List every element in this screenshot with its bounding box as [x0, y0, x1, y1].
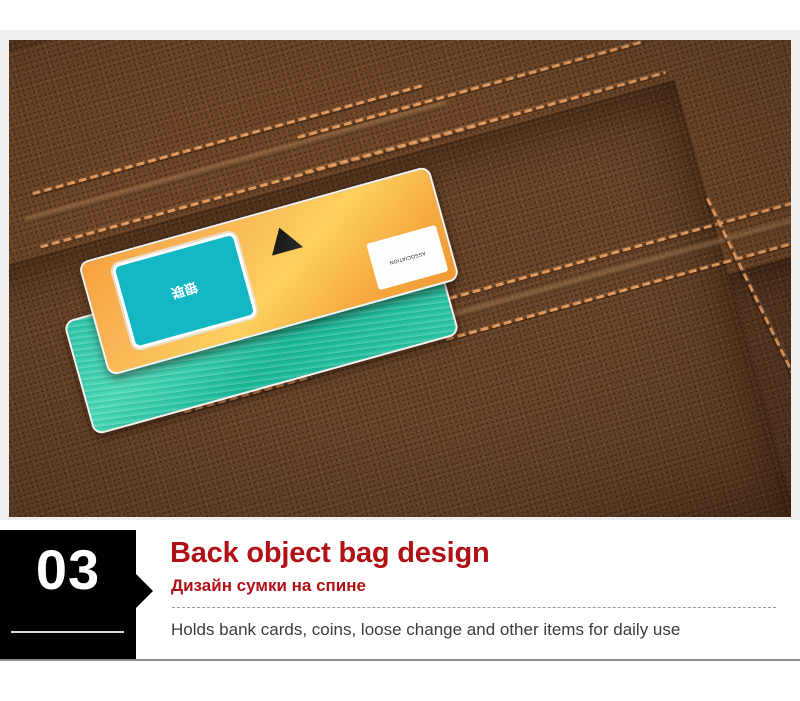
unionpay-logo-icon: 银联 — [111, 231, 258, 350]
association-label: ASSOCIATION — [366, 225, 448, 291]
caption-body: Back object bag design Дизайн сумки на с… — [170, 530, 800, 659]
feature-title: Back object bag design — [170, 539, 490, 568]
feature-description: Holds bank cards, coins, loose change an… — [171, 620, 680, 640]
product-photo-panel: 银联 Quickpass ASSOCIATION — [0, 30, 800, 520]
step-number-block: 03 — [0, 530, 136, 659]
step-number: 03 — [0, 542, 136, 598]
arrow-right-icon — [136, 574, 153, 608]
feature-subtitle: Дизайн сумки на спине — [171, 577, 366, 594]
feature-caption: 03 Back object bag design Дизайн сумки н… — [0, 530, 800, 659]
step-number-underline — [11, 631, 124, 633]
section-bottom-rule — [0, 659, 800, 661]
caption-divider — [172, 607, 776, 608]
product-photo: 银联 Quickpass ASSOCIATION — [9, 40, 791, 517]
card-chip-icon — [266, 223, 304, 256]
